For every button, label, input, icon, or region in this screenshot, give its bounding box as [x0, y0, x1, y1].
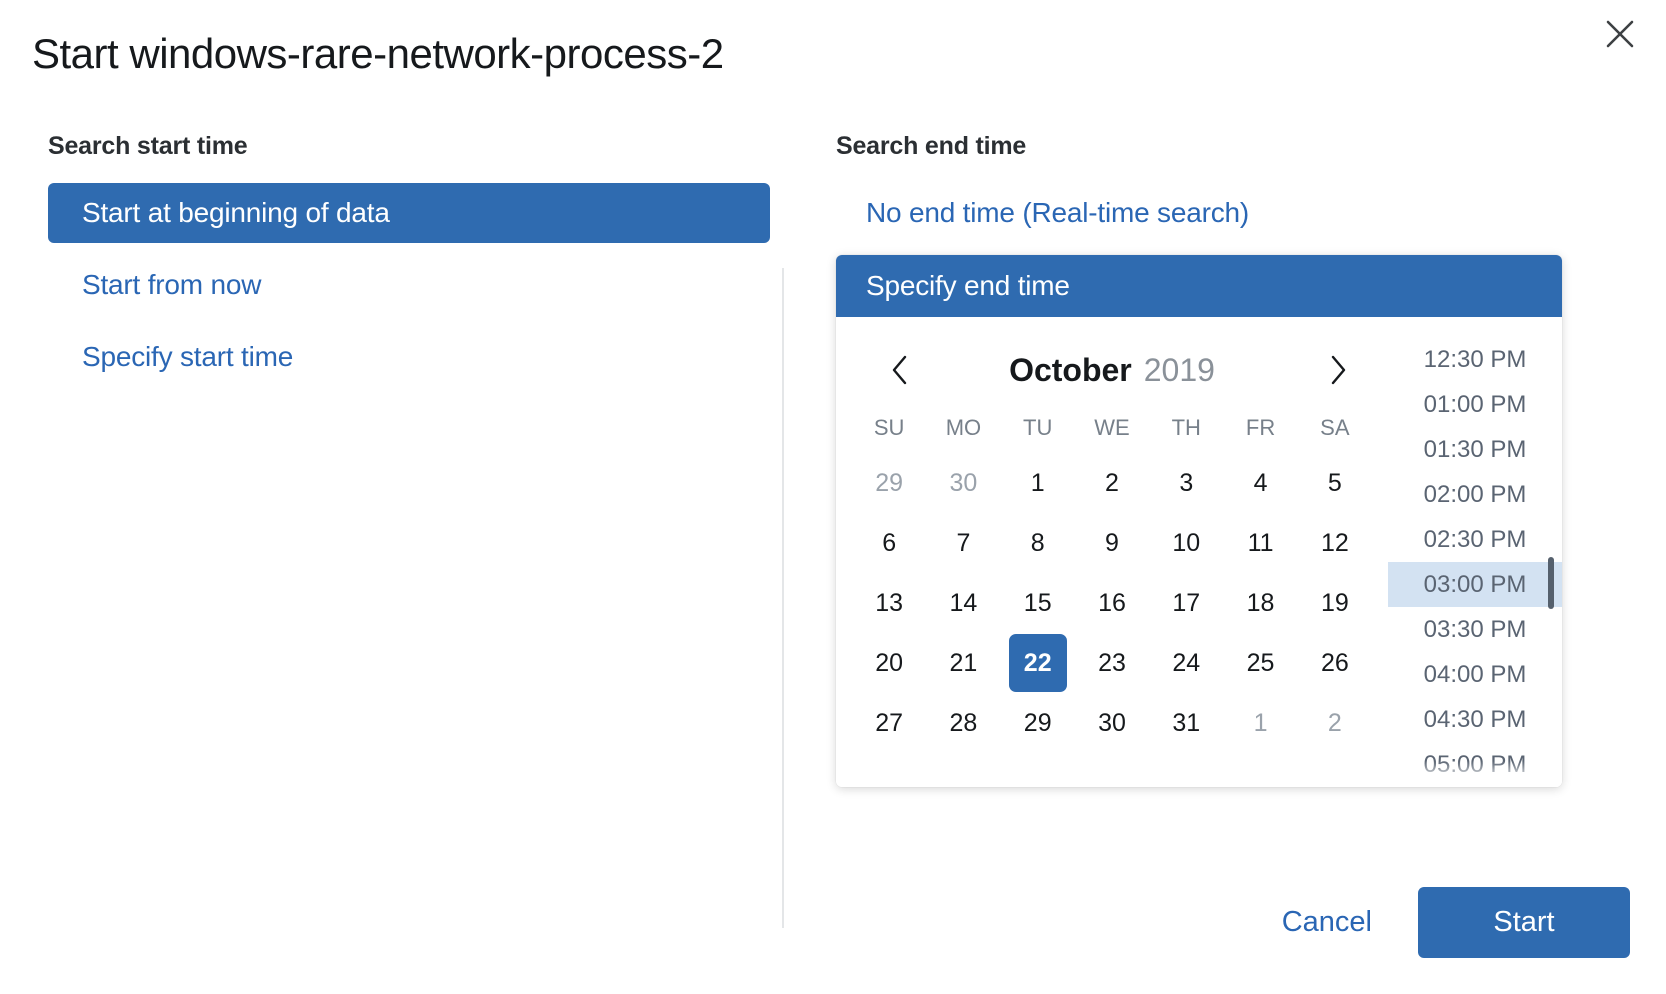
close-icon[interactable]	[1598, 12, 1642, 56]
calendar-day-27[interactable]: 27	[852, 693, 926, 753]
calendar-day-24[interactable]: 24	[1149, 633, 1223, 693]
calendar-day-label: 4	[1232, 454, 1290, 512]
calendar-day-label: 11	[1232, 514, 1290, 572]
calendar-week-row: 6789101112	[852, 513, 1372, 573]
calendar-day-label: 30	[1083, 694, 1141, 752]
calendar: October 2019 SU MO	[836, 317, 1388, 787]
start-search-dialog: Start windows-rare-network-process-2 Sea…	[0, 0, 1666, 994]
calendar-day-2[interactable]: 2	[1298, 693, 1372, 753]
calendar-day-6[interactable]: 6	[852, 513, 926, 573]
calendar-day-label: 5	[1306, 454, 1364, 512]
calendar-day-20[interactable]: 20	[852, 633, 926, 693]
calendar-day-label: 12	[1306, 514, 1364, 572]
calendar-day-13[interactable]: 13	[852, 573, 926, 633]
calendar-week-row: 293012345	[852, 453, 1372, 513]
weekday-mo: MO	[926, 401, 1000, 453]
weekday-tu: TU	[1001, 401, 1075, 453]
start-option-specify-start-time[interactable]: Specify start time	[48, 327, 770, 387]
calendar-day-25[interactable]: 25	[1223, 633, 1297, 693]
calendar-day-label: 29	[860, 454, 918, 512]
end-option-specify-end-time[interactable]: Specify end time	[836, 255, 1562, 317]
calendar-header: October 2019	[852, 339, 1372, 401]
calendar-day-label: 18	[1232, 574, 1290, 632]
calendar-day-18[interactable]: 18	[1223, 573, 1297, 633]
calendar-day-label: 30	[934, 454, 992, 512]
weekday-fr: FR	[1223, 401, 1297, 453]
datetime-picker: October 2019 SU MO	[836, 317, 1562, 787]
calendar-day-29[interactable]: 29	[852, 453, 926, 513]
calendar-day-label: 29	[1009, 694, 1067, 752]
calendar-day-1[interactable]: 1	[1223, 693, 1297, 753]
calendar-day-8[interactable]: 8	[1001, 513, 1075, 573]
calendar-day-19[interactable]: 19	[1298, 573, 1372, 633]
search-start-time-label: Search start time	[48, 132, 768, 161]
start-button[interactable]: Start	[1418, 887, 1630, 958]
calendar-day-label: 1	[1232, 694, 1290, 752]
time-option[interactable]: 04:00 PM	[1388, 652, 1562, 697]
calendar-day-10[interactable]: 10	[1149, 513, 1223, 573]
calendar-day-3[interactable]: 3	[1149, 453, 1223, 513]
calendar-day-label: 26	[1306, 634, 1364, 692]
calendar-day-15[interactable]: 15	[1001, 573, 1075, 633]
calendar-day-label: 3	[1157, 454, 1215, 512]
column-divider	[782, 268, 784, 928]
calendar-day-label: 17	[1157, 574, 1215, 632]
calendar-day-label: 27	[860, 694, 918, 752]
time-option[interactable]: 03:30 PM	[1388, 607, 1562, 652]
calendar-day-29[interactable]: 29	[1001, 693, 1075, 753]
calendar-day-label: 10	[1157, 514, 1215, 572]
calendar-day-21[interactable]: 21	[926, 633, 1000, 693]
calendar-day-label: 21	[934, 634, 992, 692]
weekday-we: WE	[1075, 401, 1149, 453]
dialog-footer: Cancel Start	[1264, 887, 1630, 958]
calendar-day-label: 2	[1083, 454, 1141, 512]
calendar-day-7[interactable]: 7	[926, 513, 1000, 573]
calendar-day-label: 13	[860, 574, 918, 632]
search-start-time-column: Search start time Start at beginning of …	[0, 132, 818, 787]
time-list-scrollbar[interactable]	[1548, 557, 1554, 609]
calendar-day-22[interactable]: 22	[1001, 633, 1075, 693]
search-end-time-column: Search end time No end time (Real-time s…	[818, 132, 1666, 787]
calendar-day-label: 24	[1157, 634, 1215, 692]
calendar-day-label: 8	[1009, 514, 1067, 572]
time-list[interactable]: 12:30 PM01:00 PM01:30 PM02:00 PM02:30 PM…	[1388, 317, 1562, 787]
calendar-day-label: 6	[860, 514, 918, 572]
calendar-year: 2019	[1144, 352, 1215, 389]
dialog-title: Start windows-rare-network-process-2	[32, 30, 724, 78]
calendar-day-label: 15	[1009, 574, 1067, 632]
calendar-day-31[interactable]: 31	[1149, 693, 1223, 753]
start-time-option-list: Start at beginning of data Start from no…	[48, 183, 770, 388]
calendar-day-label: 25	[1232, 634, 1290, 692]
time-option[interactable]: 03:00 PM	[1388, 562, 1562, 607]
calendar-day-label: 2	[1306, 694, 1364, 752]
time-option[interactable]: 01:00 PM	[1388, 382, 1562, 427]
cancel-button[interactable]: Cancel	[1264, 892, 1390, 953]
calendar-day-12[interactable]: 12	[1298, 513, 1372, 573]
calendar-day-9[interactable]: 9	[1075, 513, 1149, 573]
time-option[interactable]: 02:00 PM	[1388, 472, 1562, 517]
calendar-day-28[interactable]: 28	[926, 693, 1000, 753]
chevron-left-icon[interactable]	[880, 350, 920, 390]
calendar-day-17[interactable]: 17	[1149, 573, 1223, 633]
calendar-day-5[interactable]: 5	[1298, 453, 1372, 513]
calendar-day-26[interactable]: 26	[1298, 633, 1372, 693]
calendar-week-row: 13141516171819	[852, 573, 1372, 633]
calendar-day-11[interactable]: 11	[1223, 513, 1297, 573]
calendar-day-30[interactable]: 30	[1075, 693, 1149, 753]
calendar-date-grid: 2930123456789101112131415161718192021222…	[852, 453, 1372, 753]
end-time-option-list: No end time (Real-time search) Specify e…	[836, 183, 1564, 787]
time-option[interactable]: 04:30 PM	[1388, 697, 1562, 742]
calendar-day-1[interactable]: 1	[1001, 453, 1075, 513]
chevron-right-icon[interactable]	[1318, 350, 1358, 390]
calendar-day-label: 19	[1306, 574, 1364, 632]
calendar-day-label: 7	[934, 514, 992, 572]
time-range-columns: Search start time Start at beginning of …	[0, 132, 1666, 787]
end-option-no-end-time[interactable]: No end time (Real-time search)	[836, 183, 1564, 243]
calendar-day-23[interactable]: 23	[1075, 633, 1149, 693]
start-option-from-now[interactable]: Start from now	[48, 255, 770, 315]
calendar-day-label: 14	[934, 574, 992, 632]
calendar-day-14[interactable]: 14	[926, 573, 1000, 633]
calendar-day-label: 20	[860, 634, 918, 692]
search-end-time-label: Search end time	[836, 132, 1666, 161]
calendar-day-2[interactable]: 2	[1075, 453, 1149, 513]
calendar-week-row: 272829303112	[852, 693, 1372, 753]
time-option[interactable]: 01:30 PM	[1388, 427, 1562, 472]
weekday-sa: SA	[1298, 401, 1372, 453]
calendar-day-16[interactable]: 16	[1075, 573, 1149, 633]
weekday-su: SU	[852, 401, 926, 453]
specify-end-time-card: Specify end time October 2019	[836, 255, 1562, 787]
calendar-day-label: 23	[1083, 634, 1141, 692]
weekday-th: TH	[1149, 401, 1223, 453]
time-option[interactable]: 12:30 PM	[1388, 337, 1562, 382]
calendar-day-label: 31	[1157, 694, 1215, 752]
calendar-month: October	[1009, 352, 1132, 389]
calendar-day-label: 28	[934, 694, 992, 752]
calendar-week-row: 20212223242526	[852, 633, 1372, 693]
calendar-weekday-header: SU MO TU WE TH FR SA	[852, 401, 1372, 453]
time-option[interactable]: 05:00 PM	[1388, 742, 1562, 787]
calendar-day-label: 1	[1009, 454, 1067, 512]
calendar-day-30[interactable]: 30	[926, 453, 1000, 513]
calendar-day-label: 16	[1083, 574, 1141, 632]
calendar-day-4[interactable]: 4	[1223, 453, 1297, 513]
calendar-day-label: 9	[1083, 514, 1141, 572]
time-option[interactable]: 02:30 PM	[1388, 517, 1562, 562]
start-option-beginning-of-data[interactable]: Start at beginning of data	[48, 183, 770, 243]
calendar-day-label: 22	[1009, 634, 1067, 692]
